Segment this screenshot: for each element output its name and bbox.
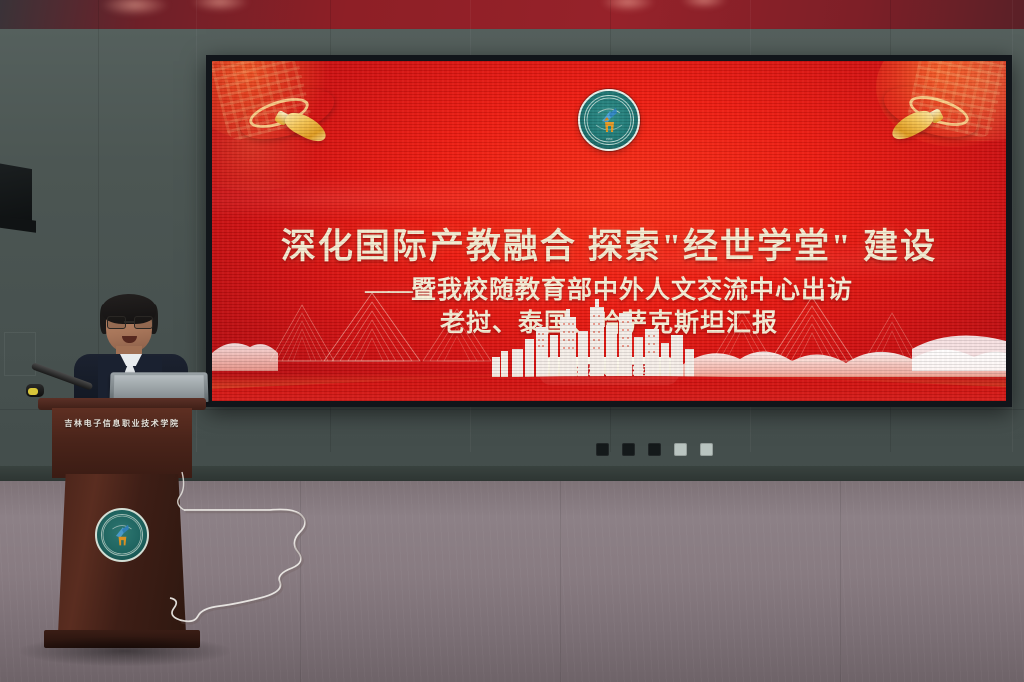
glasses bbox=[107, 316, 151, 327]
white-floor-cable bbox=[140, 470, 430, 630]
gold-lantern-ornament-left bbox=[232, 79, 340, 159]
gooseneck-microphone bbox=[28, 358, 98, 402]
podium-emblem-ring bbox=[101, 514, 143, 556]
white-city-skyline bbox=[492, 299, 694, 377]
glasses-bridge bbox=[124, 321, 134, 323]
screen-title: 深化国际产教融合 探索"经世学堂" 建设 bbox=[212, 218, 1006, 269]
screen-scenery bbox=[212, 291, 1006, 401]
mountain-lines-left bbox=[270, 293, 491, 361]
wall-port-panel bbox=[596, 443, 713, 456]
svg-text:1964: 1964 bbox=[606, 137, 613, 141]
podium-shadow bbox=[20, 636, 230, 666]
glasses-lens-left bbox=[107, 316, 126, 329]
mountain-lines-right bbox=[712, 297, 920, 361]
laptop-screen bbox=[114, 375, 205, 398]
gold-lantern-ornament-right bbox=[878, 77, 986, 157]
podium-institution-text: 吉林电子信息职业技术学院 bbox=[52, 418, 192, 429]
led-screen[interactable]: 1964 深化国际产教融合 探索"经世学堂" 建设 ——暨我校随教育部中外人文交… bbox=[212, 61, 1006, 401]
presentation-hall-photo: 1964 深化国际产教融合 探索"经世学堂" 建设 ——暨我校随教育部中外人文交… bbox=[0, 0, 1024, 682]
scenery-artwork bbox=[212, 291, 1006, 401]
wall-port-3[interactable] bbox=[648, 443, 661, 456]
jilin-college-emblem: 1964 bbox=[578, 89, 640, 151]
microphone-indicator bbox=[28, 388, 38, 395]
wall-port-2[interactable] bbox=[622, 443, 635, 456]
wall-port-4[interactable] bbox=[674, 443, 687, 456]
floor-seam-2 bbox=[560, 481, 561, 682]
emblem-artwork: 1964 bbox=[580, 91, 638, 149]
cable-path bbox=[140, 470, 430, 630]
wall-port-5[interactable] bbox=[700, 443, 713, 456]
floor-seam-3 bbox=[840, 481, 841, 682]
wall-seam-8 bbox=[1012, 0, 1013, 452]
wall-port-1[interactable] bbox=[596, 443, 609, 456]
glasses-lens-right bbox=[134, 316, 153, 329]
